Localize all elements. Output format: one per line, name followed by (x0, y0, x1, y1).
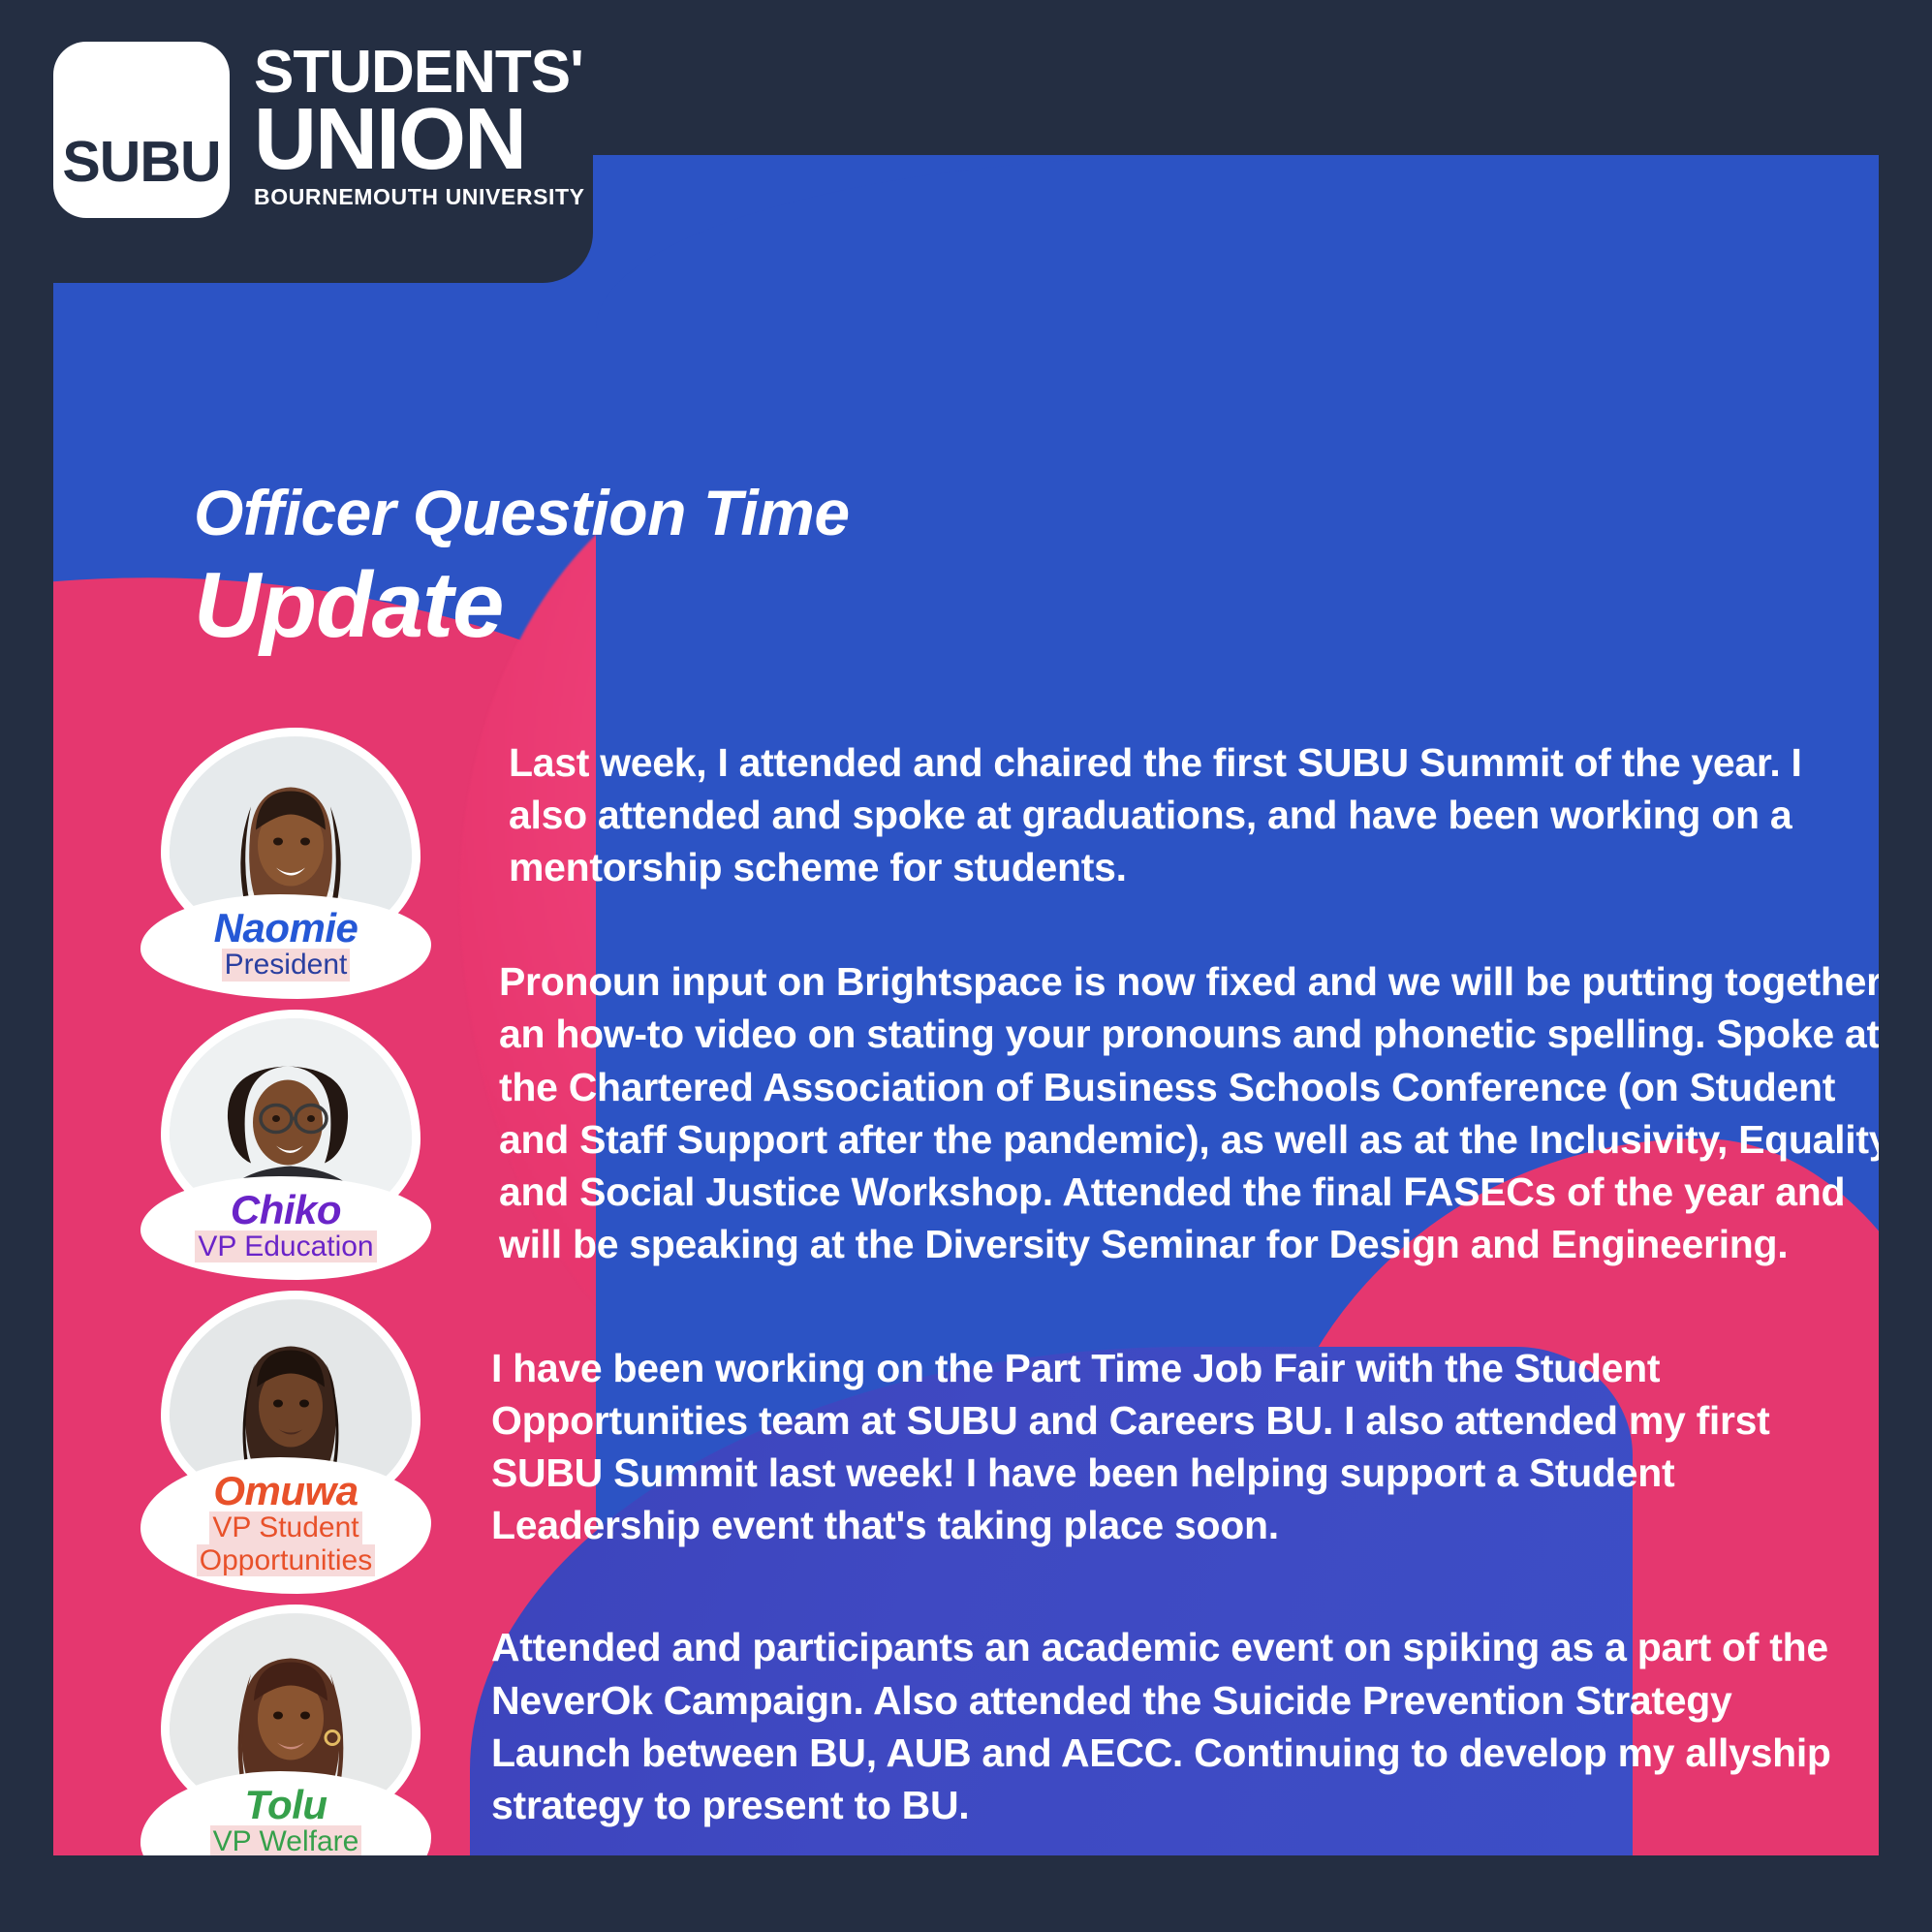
poster-card: Officer Question Time Update (53, 155, 1879, 1855)
officer-role: VP Education (195, 1231, 376, 1263)
officer-card-naomie: Naomie President (140, 736, 470, 999)
officer-nametag: Omuwa VP Student Opportunities (140, 1457, 431, 1594)
update-paragraph-naomie: Last week, I attended and chaired the fi… (509, 736, 1879, 893)
officer-card-chiko: Chiko VP Education (140, 1018, 470, 1281)
title-line-1: Officer Question Time (194, 480, 850, 546)
update-paragraph-omuwa: I have been working on the Part Time Job… (491, 1342, 1879, 1551)
officer-role-line: VP Welfare (210, 1825, 362, 1855)
officer-role-line: Opportunities (197, 1544, 375, 1577)
logo-line-union: UNION (254, 100, 585, 180)
officer-role: President (222, 949, 351, 982)
poster-root: Officer Question Time Update (0, 0, 1932, 1932)
officer-role-line: President (222, 949, 351, 982)
title-line-2: Update (194, 554, 850, 657)
updates-column: Last week, I attended and chaired the fi… (509, 736, 1879, 1831)
officer-name: Chiko (231, 1190, 341, 1231)
officer-card-tolu: Tolu VP Welfare & Community (140, 1613, 470, 1855)
logo-header-tab: SUBU STUDENTS' UNION BOURNEMOUTH UNIVERS… (0, 0, 593, 283)
officer-name: Naomie (214, 908, 358, 949)
officer-role-line: VP Education (195, 1231, 376, 1263)
officer-name: Tolu (244, 1785, 327, 1825)
officer-nametag: Naomie President (140, 894, 431, 999)
officer-list: Naomie President (140, 736, 470, 1855)
officer-nametag: Chiko VP Education (140, 1176, 431, 1281)
page-title: Officer Question Time Update (194, 480, 850, 657)
officer-role-line: VP Student (209, 1511, 361, 1544)
officer-name: Omuwa (213, 1471, 358, 1511)
logo-line-university: BOURNEMOUTH UNIVERSITY (254, 180, 585, 214)
officer-card-omuwa: Omuwa VP Student Opportunities (140, 1299, 470, 1594)
update-paragraph-chiko: Pronoun input on Brightspace is now fixe… (499, 955, 1879, 1270)
subu-logo-wordmark: STUDENTS' UNION BOURNEMOUTH UNIVERSITY (254, 45, 585, 213)
subu-logo-mark: SUBU (53, 42, 230, 218)
officer-role: VP Student Opportunities (197, 1511, 375, 1576)
update-paragraph-tolu: Attended and participants an academic ev… (491, 1621, 1867, 1830)
officer-role: VP Welfare & Community (196, 1825, 376, 1855)
subu-logo-text: SUBU (62, 134, 220, 218)
